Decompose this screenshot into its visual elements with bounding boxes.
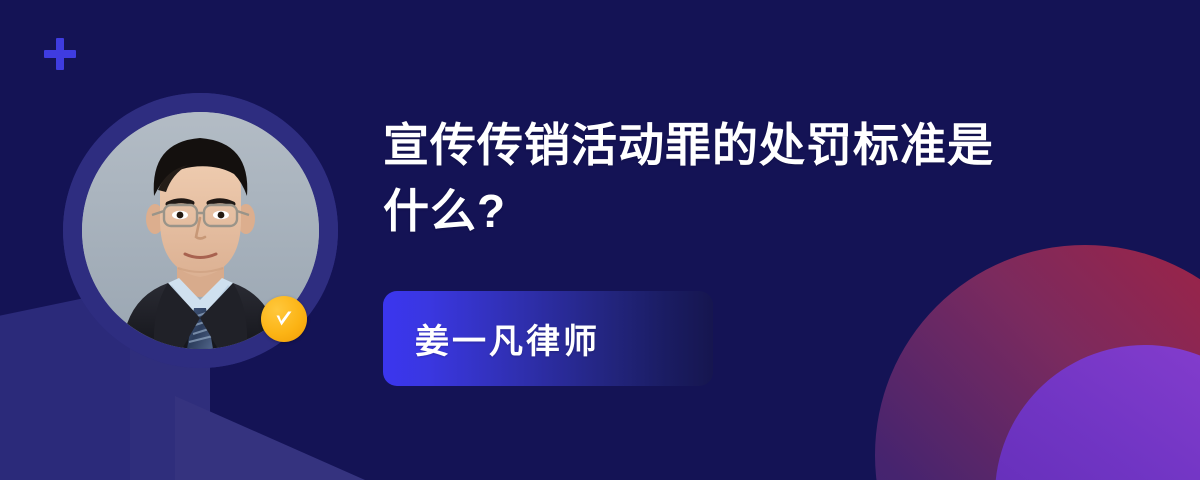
plus-icon: [44, 38, 76, 70]
verified-check-icon: [261, 296, 307, 342]
lawyer-name-label: 姜一凡律师: [383, 314, 600, 363]
lawyer-question-banner: 宣传传销活动罪的处罚标准是什么? 姜一凡律师: [0, 0, 1200, 480]
lawyer-name-badge[interactable]: 姜一凡律师: [383, 291, 713, 386]
avatar[interactable]: [63, 93, 338, 368]
headline-block: 宣传传销活动罪的处罚标准是什么?: [383, 112, 1113, 244]
page-title: 宣传传销活动罪的处罚标准是什么?: [383, 112, 1023, 244]
decorative-circle-inner: [995, 345, 1200, 480]
decorative-circle-outer: [875, 245, 1200, 480]
